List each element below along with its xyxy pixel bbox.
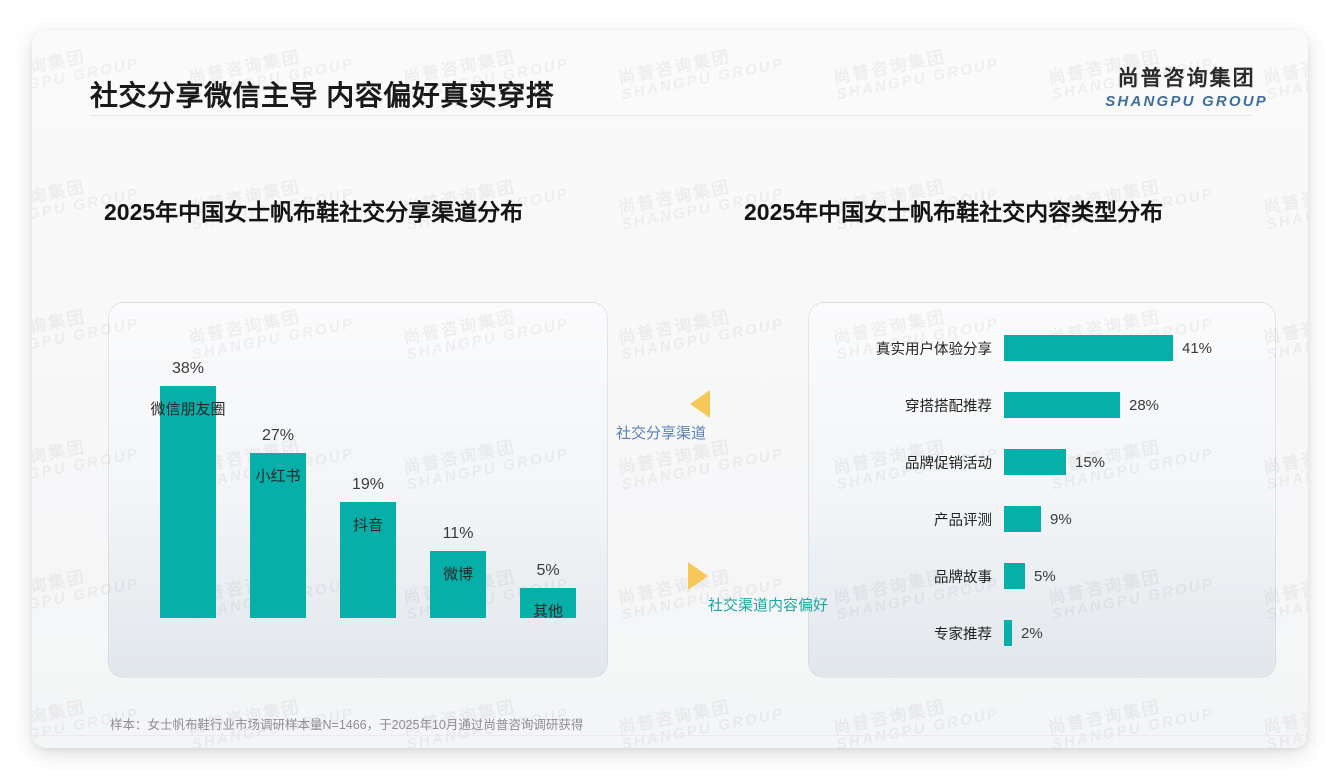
bar-value-label: 2% bbox=[1021, 625, 1043, 642]
bar-category-label: 专家推荐 bbox=[808, 623, 1004, 644]
triangle-left-icon bbox=[690, 390, 710, 418]
bar-category-label: 品牌故事 bbox=[808, 566, 1004, 587]
vertical-bar-chart: 38%微信朋友圈27%小红书19%抖音11%微博5%其他 bbox=[108, 302, 608, 678]
bar-value-label: 11% bbox=[424, 525, 492, 543]
annotation-share-channel-label: 社交分享渠道 bbox=[616, 422, 706, 443]
bar-rect bbox=[1004, 506, 1041, 532]
bar-value-label: 41% bbox=[1182, 340, 1212, 357]
bar-value-label: 5% bbox=[1034, 568, 1056, 585]
annotation-content-preference-label: 社交渠道内容偏好 bbox=[708, 594, 828, 615]
header-divider bbox=[90, 115, 1252, 116]
bar-value-label: 15% bbox=[1075, 454, 1105, 471]
sample-footnote: 样本：女士帆布鞋行业市场调研样本量N=1466，于2025年10月通过尚普咨询调… bbox=[110, 714, 583, 733]
bar-row: 穿搭搭配推荐28% bbox=[808, 390, 1276, 420]
bar-row: 产品评测9% bbox=[808, 504, 1276, 534]
bar-category-label: 其他 bbox=[490, 600, 606, 621]
bar-row: 品牌促销活动15% bbox=[808, 447, 1276, 477]
bar-category-label: 微博 bbox=[400, 563, 516, 584]
bar-category-label: 品牌促销活动 bbox=[808, 452, 1004, 473]
bar-value-label: 28% bbox=[1129, 397, 1159, 414]
bar-value-label: 27% bbox=[244, 427, 312, 445]
brand-logo-cn: 尚普咨询集团 bbox=[1105, 68, 1268, 89]
bar-rect bbox=[1004, 563, 1025, 589]
bar-category-label: 穿搭搭配推荐 bbox=[808, 395, 1004, 416]
horizontal-bar-chart: 真实用户体验分享41%穿搭搭配推荐28%品牌促销活动15%产品评测9%品牌故事5… bbox=[808, 302, 1276, 678]
bar-category-label: 微信朋友圈 bbox=[130, 398, 246, 419]
bar-group: 19%抖音 bbox=[334, 502, 402, 618]
bar-rect bbox=[430, 551, 486, 618]
bar-rect bbox=[1004, 620, 1012, 646]
bar-group: 38%微信朋友圈 bbox=[154, 386, 222, 618]
bar-value-label: 5% bbox=[514, 562, 582, 580]
bar-value-label: 9% bbox=[1050, 511, 1072, 528]
bar-value-label: 19% bbox=[334, 476, 402, 494]
page-title: 社交分享微信主导 内容偏好真实穿搭 bbox=[90, 74, 554, 114]
bar-row: 专家推荐2% bbox=[808, 618, 1276, 648]
watermark-tile: 尚普咨询集团SHANGPU GROUP bbox=[617, 298, 786, 363]
slide-canvas: 社交分享微信主导 内容偏好真实穿搭 尚普咨询集团 SHANGPU GROUP 尚… bbox=[32, 30, 1308, 748]
bar-category-label: 抖音 bbox=[310, 514, 426, 535]
bar-rect bbox=[1004, 449, 1066, 475]
bar-row: 品牌故事5% bbox=[808, 561, 1276, 591]
chart-title-left: 2025年中国女士帆布鞋社交分享渠道分布 bbox=[104, 193, 523, 227]
bar-rect bbox=[1004, 335, 1173, 361]
brand-logo: 尚普咨询集团 SHANGPU GROUP bbox=[1105, 68, 1268, 109]
chart-title-right: 2025年中国女士帆布鞋社交内容类型分布 bbox=[744, 193, 1163, 227]
slide-footer: ©2025.12 SHANGPU GROUP www.shangpu-china… bbox=[32, 736, 1308, 748]
bar-category-label: 小红书 bbox=[220, 465, 336, 486]
bar-group: 11%微博 bbox=[424, 551, 492, 618]
bar-value-label: 38% bbox=[154, 360, 222, 378]
bar-row: 真实用户体验分享41% bbox=[808, 333, 1276, 363]
brand-logo-en: SHANGPU GROUP bbox=[1105, 94, 1268, 109]
bar-group: 27%小红书 bbox=[244, 453, 312, 618]
watermark-tile: 尚普咨询集团SHANGPU GROUP bbox=[1262, 168, 1308, 233]
bar-group: 5%其他 bbox=[514, 588, 582, 618]
triangle-right-icon bbox=[688, 562, 708, 590]
bar-category-label: 真实用户体验分享 bbox=[808, 338, 1004, 359]
bar-rect bbox=[160, 386, 216, 618]
slide-header: 社交分享微信主导 内容偏好真实穿搭 尚普咨询集团 SHANGPU GROUP bbox=[32, 30, 1308, 118]
bar-category-label: 产品评测 bbox=[808, 509, 1004, 530]
bar-rect bbox=[1004, 392, 1120, 418]
